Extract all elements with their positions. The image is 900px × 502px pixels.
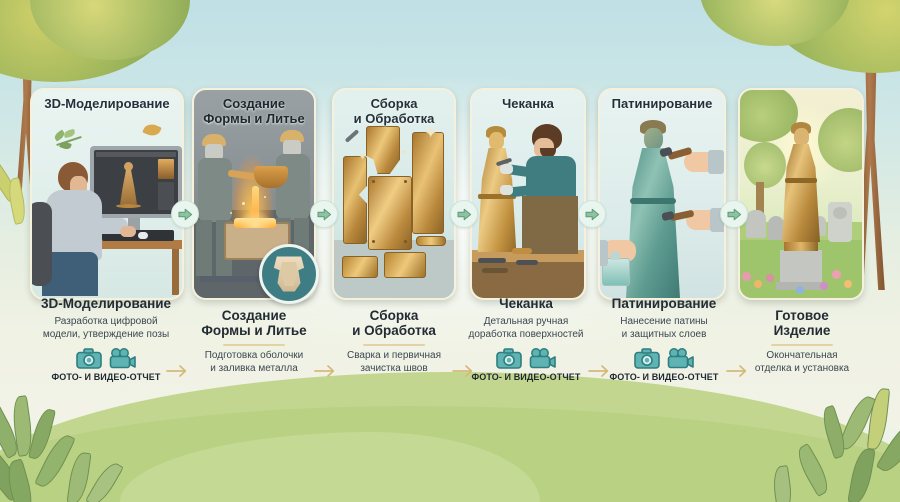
step-arrow-3 [450, 200, 478, 228]
step-label-5: Патинирование Нанесение патины и защитны… [596, 296, 732, 382]
infographic-root: 3D-Моделирование [0, 0, 900, 502]
video-camera-icon [667, 348, 695, 369]
step-label-2: Создание Формы и Литье Подготовка оболоч… [190, 308, 318, 375]
step-label-3: Сборка и Обработка Сварка и первичная за… [332, 308, 456, 375]
video-camera-icon [529, 348, 557, 369]
foliage-bottom-right [752, 392, 900, 502]
step-title-6: Готовое Изделие [738, 308, 866, 339]
step-desc-1: Разработка цифровой модели, утверждение … [8, 316, 204, 342]
step-arrow-5 [720, 200, 748, 228]
divider-2 [223, 344, 285, 346]
camera-icon [634, 348, 660, 369]
step-card-3[interactable]: ✦ ✦ ✦ Сборка и Обработка [332, 88, 456, 300]
scene-finished-statue [740, 90, 862, 298]
step-title-3: Сборка и Обработка [332, 308, 456, 339]
foliage-bottom-left [0, 398, 154, 502]
card-title-1: 3D-Моделирование [32, 97, 182, 112]
step-desc-2: Подготовка оболочки и заливка металла [190, 350, 318, 376]
card-title-3: Сборка и Обработка [334, 97, 454, 126]
scene-patination [600, 90, 724, 298]
step-desc-3: Сварка и первичная зачистка швов [332, 350, 456, 376]
step-label-6: Готовое Изделие Окончательная отделка и … [738, 308, 866, 375]
step-desc-6: Окончательная отделка и установка [738, 350, 866, 376]
step-arrow-1 [171, 200, 199, 228]
step-title-2: Создание Формы и Литье [190, 308, 318, 339]
decor-sprig [50, 130, 84, 154]
camera-icon [496, 348, 522, 369]
step-title-1: 3D-Моделирование [8, 296, 204, 311]
media-caption-5: ФОТО- И ВИДЕО-ОТЧЕТ [596, 372, 732, 382]
mold-badge-icon [259, 244, 319, 304]
media-caption-4: ФОТО- И ВИДЕО-ОТЧЕТ [460, 372, 592, 382]
step-title-5: Патинирование [596, 296, 732, 311]
step-arrow-2 [310, 200, 338, 228]
step-desc-4: Детальная ручная доработка поверхностей [460, 316, 592, 342]
decor-leaf [142, 121, 161, 138]
step-card-5[interactable]: Патинирование [598, 88, 726, 300]
step-card-6[interactable] [738, 88, 864, 300]
step-desc-5: Нанесение патины и защитных слоев [596, 316, 732, 342]
scene-chasing [472, 90, 584, 298]
divider-3 [363, 344, 425, 346]
media-report-5 [596, 348, 732, 369]
step-title-4: Чеканка [460, 296, 592, 311]
step-card-1[interactable]: 3D-Моделирование [30, 88, 184, 300]
card-title-5: Патинирование [600, 97, 724, 112]
scene-modeling [32, 90, 182, 298]
card-title-4: Чеканка [472, 97, 584, 112]
label-arrow-1 [166, 364, 188, 383]
media-report-4 [460, 348, 592, 369]
step-card-4[interactable]: Чеканка [470, 88, 586, 300]
card-title-2: Создание Формы и Литье [194, 97, 314, 126]
step-label-4: Чеканка Детальная ручная доработка повер… [460, 296, 592, 382]
divider-6 [771, 344, 833, 346]
step-arrow-4 [578, 200, 606, 228]
video-camera-icon [109, 348, 137, 369]
camera-icon [76, 348, 102, 369]
